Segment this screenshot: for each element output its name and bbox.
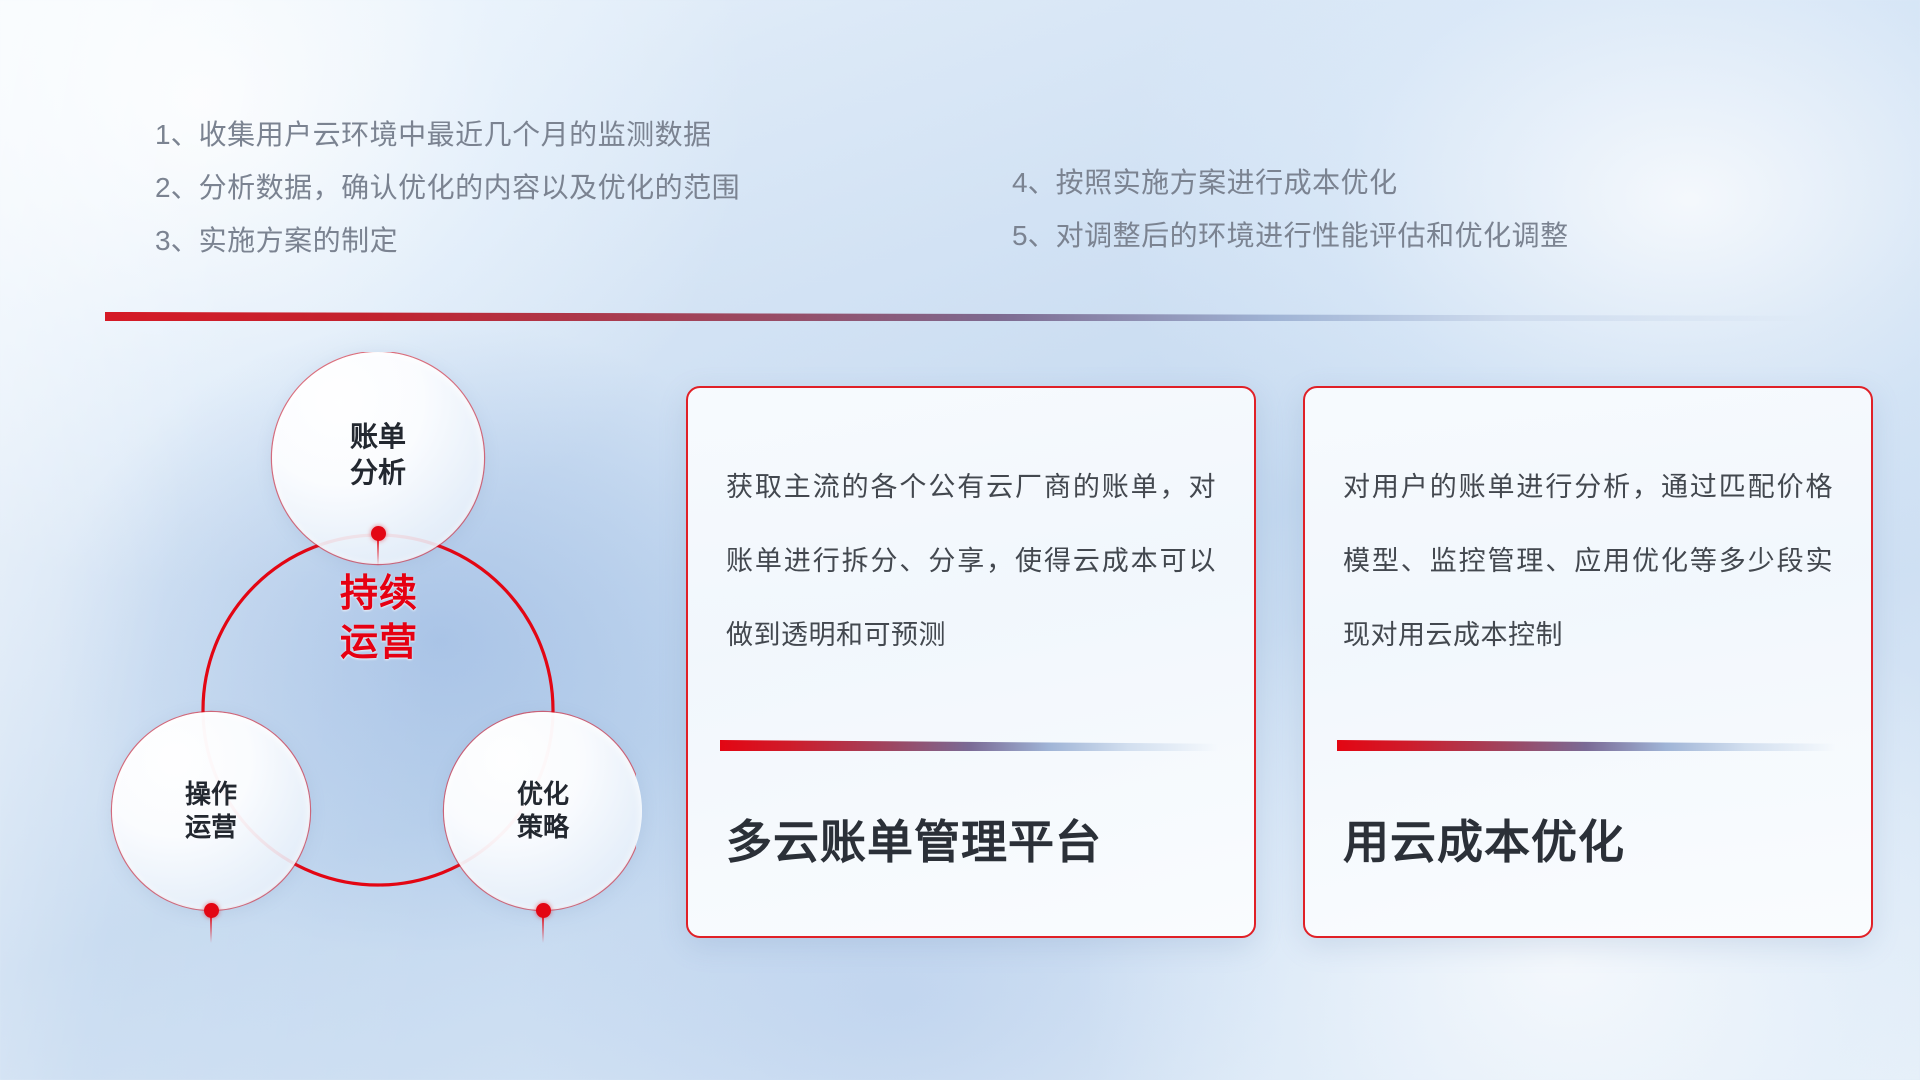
step-text: 收集用户云环境中最近几个月的监测数据 <box>199 119 712 150</box>
diagram-center-label: 持续 运营 <box>289 570 469 667</box>
continuous-operation-diagram: 账单 分析 操作 运营 优化 策略 持续 运营 <box>96 352 636 952</box>
step-text: 对调整后的环境进行性能评估和优化调整 <box>1056 220 1569 251</box>
card-body-text: 获取主流的各个公有云厂商的账单，对账单进行拆分、分享，使得云成本可以做到透明和可… <box>726 450 1216 672</box>
connector-dot-bottom-right <box>536 903 551 918</box>
diagram-lobe-operations[interactable]: 操作 运营 <box>112 712 310 910</box>
step-text: 实施方案的制定 <box>199 225 399 256</box>
connector-tail-top <box>377 540 379 566</box>
list-item: 1、收集用户云环境中最近几个月的监测数据 <box>155 108 740 161</box>
center-label-line2: 运营 <box>289 619 469 668</box>
card-multi-cloud-billing[interactable]: 获取主流的各个公有云厂商的账单，对账单进行拆分、分享，使得云成本可以做到透明和可… <box>686 386 1256 938</box>
step-number: 2、 <box>155 172 199 203</box>
connector-dot-top <box>371 526 386 541</box>
list-item: 3、实施方案的制定 <box>155 214 740 267</box>
process-steps-list: 1、收集用户云环境中最近几个月的监测数据 2、分析数据，确认优化的内容以及优化的… <box>0 108 1920 288</box>
connector-tail-bottom-left <box>210 917 212 943</box>
step-number: 3、 <box>155 225 199 256</box>
list-item: 2、分析数据，确认优化的内容以及优化的范围 <box>155 161 740 214</box>
lobe-label-line1: 操作 <box>185 778 237 811</box>
card-body-text: 对用户的账单进行分析，通过匹配价格模型、监控管理、应用优化等多少段实现对用云成本… <box>1343 450 1833 672</box>
steps-column-left: 1、收集用户云环境中最近几个月的监测数据 2、分析数据，确认优化的内容以及优化的… <box>155 108 740 267</box>
lobe-label-line1: 优化 <box>517 778 569 811</box>
card-cloud-cost-optimization[interactable]: 对用户的账单进行分析，通过匹配价格模型、监控管理、应用优化等多少段实现对用云成本… <box>1303 386 1873 938</box>
connector-dot-bottom-left <box>204 903 219 918</box>
step-number: 1、 <box>155 119 199 150</box>
card-title: 用云成本优化 <box>1343 806 1625 872</box>
step-text: 按照实施方案进行成本优化 <box>1056 167 1398 198</box>
lobe-label-line2: 分析 <box>350 455 406 491</box>
lobe-label-line2: 策略 <box>517 811 569 844</box>
step-number: 5、 <box>1012 220 1056 251</box>
step-number: 4、 <box>1012 167 1056 198</box>
card-title: 多云账单管理平台 <box>726 806 1102 872</box>
connector-tail-bottom-right <box>542 917 544 943</box>
step-text: 分析数据，确认优化的内容以及优化的范围 <box>199 172 741 203</box>
steps-column-right: 4、按照实施方案进行成本优化 5、对调整后的环境进行性能评估和优化调整 <box>1012 156 1569 262</box>
list-item: 4、按照实施方案进行成本优化 <box>1012 156 1569 209</box>
diagram-lobe-optimization-strategy[interactable]: 优化 策略 <box>444 712 642 910</box>
card-divider-rule <box>720 740 1218 751</box>
list-item: 5、对调整后的环境进行性能评估和优化调整 <box>1012 209 1569 262</box>
lobe-label-line1: 账单 <box>350 419 406 455</box>
header-divider-rule <box>105 312 1820 321</box>
center-label-line1: 持续 <box>289 570 469 619</box>
lobe-label-line2: 运营 <box>185 811 237 844</box>
card-divider-rule <box>1337 740 1835 751</box>
